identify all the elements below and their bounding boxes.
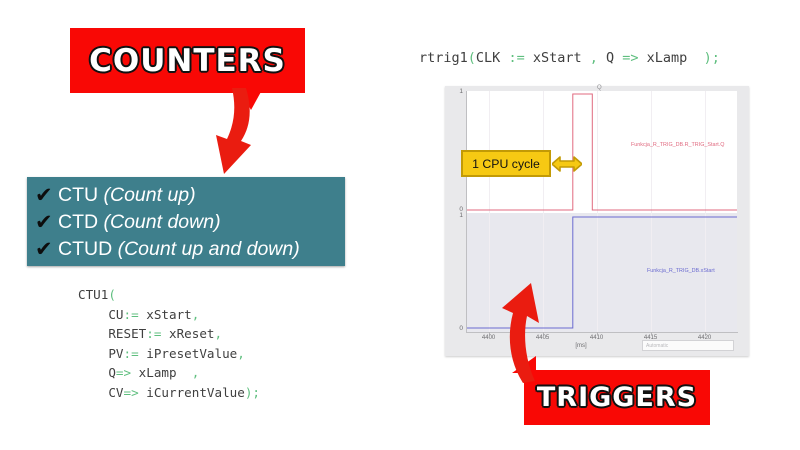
code-line: CV=> iCurrentValue); bbox=[78, 383, 260, 403]
chart-mode-dropdown[interactable]: Automatic bbox=[642, 340, 734, 351]
counter-ctu: CTU (Count up) bbox=[58, 182, 196, 209]
counters-banner-label: COUNTERS bbox=[89, 43, 286, 79]
check-icon: ✔ bbox=[35, 239, 58, 260]
x-tick-label: 4410 bbox=[590, 335, 603, 341]
code-line: rtrig1(CLK := xStart , Q => xLamp ); bbox=[419, 48, 720, 68]
code-line: CTU1( bbox=[78, 285, 260, 305]
y-tick-top-1: 1 bbox=[451, 88, 463, 95]
up-arrow-icon bbox=[489, 275, 555, 383]
series-label-q: Funkcja_R_TRIG_DB.R_TRIG_Start.Q bbox=[631, 142, 724, 148]
code-line: CU:= xStart, bbox=[78, 305, 260, 325]
y-tick-bottom-1: 1 bbox=[451, 212, 463, 219]
cpu-cycle-callout: 1 CPU cycle bbox=[461, 150, 551, 177]
chart-mode-value: Automatic bbox=[646, 343, 668, 349]
x-axis-unit-label: [ms] bbox=[575, 343, 586, 349]
rtrig-code-line: rtrig1(CLK := xStart , Q => xLamp ); bbox=[419, 48, 720, 68]
list-item: ✔ CTD (Count down) bbox=[35, 209, 345, 236]
code-line: RESET:= xReset, bbox=[78, 324, 260, 344]
check-icon: ✔ bbox=[35, 212, 58, 233]
down-arrow-icon bbox=[193, 86, 265, 178]
list-item: ✔ CTUD (Count up and down) bbox=[35, 236, 345, 263]
series-label-xstart: Funkcja_R_TRIG_DB.xStart bbox=[647, 268, 715, 274]
double-arrow-icon bbox=[552, 155, 582, 173]
list-item: ✔ CTU (Count up) bbox=[35, 182, 345, 209]
counter-ctd: CTD (Count down) bbox=[58, 209, 221, 236]
code-line: Q=> xLamp , bbox=[78, 363, 260, 383]
ctu-code-block: CTU1( CU:= xStart, RESET:= xReset, PV:= … bbox=[78, 285, 260, 402]
slide-canvas: COUNTERS ✔ CTU (Count up) ✔ CTD (Count d… bbox=[0, 0, 800, 450]
counters-banner: COUNTERS bbox=[70, 28, 305, 93]
y-tick-bottom-0: 0 bbox=[451, 325, 463, 332]
triggers-banner-label: TRIGGERS bbox=[537, 382, 697, 413]
code-line: PV:= iPresetValue, bbox=[78, 344, 260, 364]
counter-types-box: ✔ CTU (Count up) ✔ CTD (Count down) ✔ CT… bbox=[27, 177, 345, 266]
check-icon: ✔ bbox=[35, 185, 58, 206]
counter-ctud: CTUD (Count up and down) bbox=[58, 236, 300, 263]
cpu-cycle-label: 1 CPU cycle bbox=[472, 157, 540, 171]
